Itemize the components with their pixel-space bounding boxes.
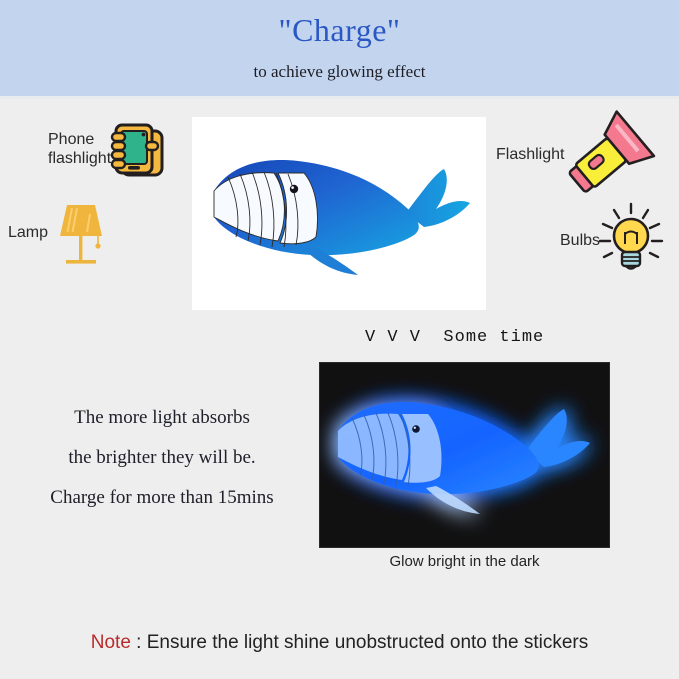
header-banner: "Charge" to achieve glowing effect (0, 0, 679, 96)
dark-photo-caption: Glow bright in the dark (319, 553, 610, 570)
charge-instructions-line1: The more light absorbs (22, 398, 302, 438)
page-subtitle: to achieve glowing effect (0, 62, 679, 82)
label-lamp: Lamp (8, 223, 48, 242)
charge-instructions: The more light absorbs the brighter they… (22, 398, 302, 518)
phone-in-hand-icon (108, 117, 174, 183)
whale-photo-light (192, 117, 486, 310)
flashlight-icon (555, 110, 665, 200)
charge-instructions-line3: Charge for more than 15mins (22, 478, 302, 518)
light-bulb-icon (592, 200, 670, 278)
header-divider (0, 96, 679, 99)
note-keyword: Note (91, 632, 131, 653)
some-time-label: V V V Some time (365, 328, 544, 347)
table-lamp-icon (52, 196, 114, 268)
note-separator: : (131, 632, 147, 653)
page-title: "Charge" (0, 12, 679, 49)
note-line: Note : Ensure the light shine unobstruct… (0, 632, 679, 654)
note-text: Ensure the light shine unobstructed onto… (147, 632, 588, 653)
whale-photo-dark (319, 362, 610, 548)
promo-page: "Charge" to achieve glowing effect Phone… (0, 0, 679, 679)
charge-instructions-line2: the brighter they will be. (22, 438, 302, 478)
